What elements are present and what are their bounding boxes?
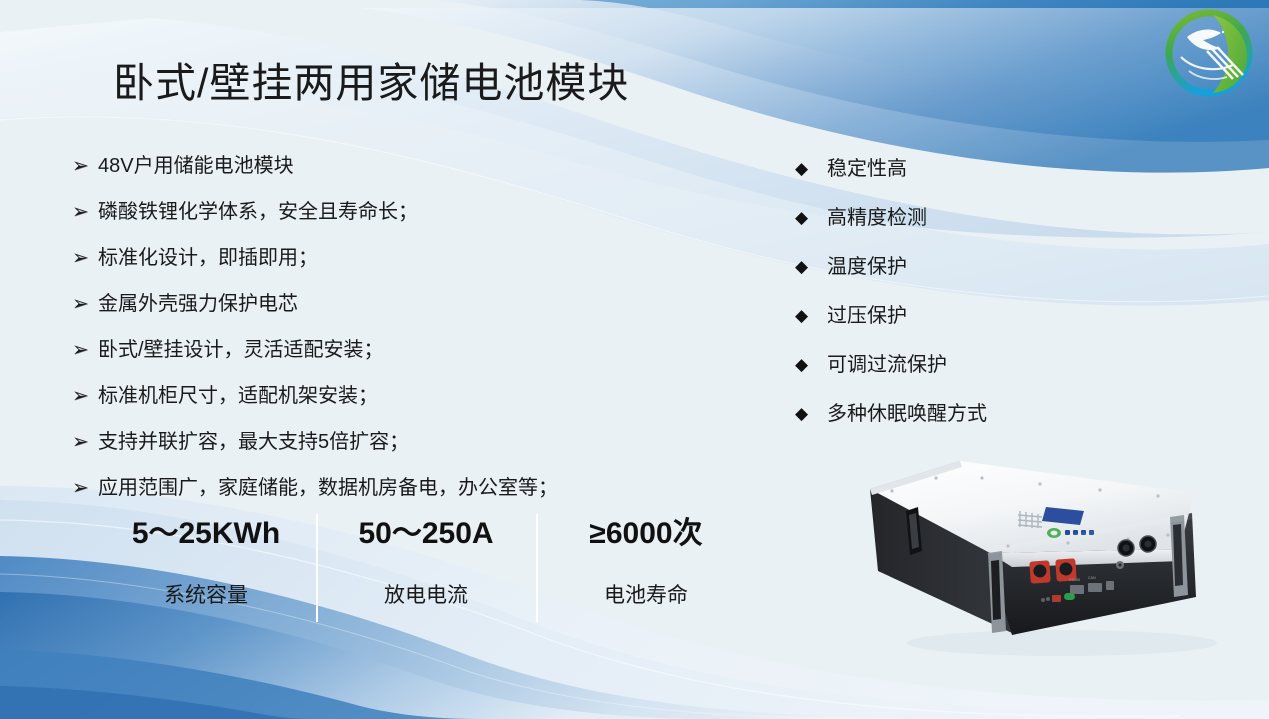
list-item: ◆ 温度保护 (795, 253, 1095, 281)
list-item: ➢ 卧式/壁挂设计，灵活适配安装； (72, 336, 692, 364)
features-left-list: ➢ 48V户用储能电池模块 ➢ 磷酸铁锂化学体系，安全且寿命长； ➢ 标准化设计… (72, 152, 692, 520)
spec-label: 系统容量 (164, 583, 248, 609)
svg-text:-: - (1060, 553, 1062, 559)
list-item: ◆ 多种休眠唤醒方式 (795, 400, 1095, 428)
slide-canvas: 卧式/壁挂两用家储电池模块 ➢ 48V户用储能电池模块 ➢ 磷酸铁锂化学体系，安… (0, 0, 1269, 719)
list-item-label: 卧式/壁挂设计，灵活适配安装； (98, 336, 384, 364)
spec-item-discharge-current: 50～250A 放电电流 (316, 512, 536, 624)
list-item-label: 标准化设计，即插即用； (98, 244, 318, 272)
diamond-bullet-icon: ◆ (795, 253, 827, 281)
svg-text:RS485: RS485 (1069, 578, 1080, 582)
list-item-label: 可调过流保护 (827, 351, 947, 379)
list-item: ◆ 高精度检测 (795, 204, 1095, 232)
list-item: ➢ 磷酸铁锂化学体系，安全且寿命长； (72, 198, 692, 226)
list-item: ➢ 应用范围广，家庭储能，数据机房备电，办公室等； (72, 474, 692, 502)
spec-label: 电池寿命 (604, 583, 688, 609)
arrow-bullet-icon: ➢ (72, 382, 98, 410)
list-item: ➢ 支持并联扩容，最大支持5倍扩容； (72, 428, 692, 456)
list-item-label: 应用范围广，家庭储能，数据机房备电，办公室等； (98, 474, 558, 502)
list-item-label: 标准机柜尺寸，适配机架安装； (98, 382, 378, 410)
list-item-label: 磷酸铁锂化学体系，安全且寿命长； (98, 198, 418, 226)
list-item: ◆ 稳定性高 (795, 155, 1095, 183)
spec-value: 5～25KWh (132, 517, 280, 551)
list-item-label: 多种休眠唤醒方式 (827, 400, 987, 428)
spec-value: 50～250A (358, 517, 493, 551)
diamond-bullet-icon: ◆ (795, 302, 827, 330)
list-item-label: 高精度检测 (827, 204, 927, 232)
list-item: ◆ 过压保护 (795, 302, 1095, 330)
list-item-label: 金属外壳强力保护电芯 (98, 290, 298, 318)
spec-value: ≥6000次 (589, 517, 702, 551)
diamond-bullet-icon: ◆ (795, 204, 827, 232)
list-item-label: 支持并联扩容，最大支持5倍扩容； (98, 428, 409, 456)
arrow-bullet-icon: ➢ (72, 336, 98, 364)
spec-item-capacity: 5～25KWh 系统容量 (96, 512, 316, 624)
list-item: ➢ 标准化设计，即插即用； (72, 244, 692, 272)
arrow-bullet-icon: ➢ (72, 244, 98, 272)
list-item: ➢ 金属外壳强力保护电芯 (72, 290, 692, 318)
list-item: ◆ 可调过流保护 (795, 351, 1095, 379)
diamond-bullet-icon: ◆ (795, 400, 827, 428)
list-item: ➢ 48V户用储能电池模块 (72, 152, 692, 180)
diamond-bullet-icon: ◆ (795, 351, 827, 379)
svg-text:CAN: CAN (1088, 576, 1096, 580)
spec-label: 放电电流 (384, 583, 468, 609)
arrow-bullet-icon: ➢ (72, 428, 98, 456)
list-item-label: 过压保护 (827, 302, 907, 330)
arrow-bullet-icon: ➢ (72, 198, 98, 226)
arrow-bullet-icon: ➢ (72, 290, 98, 318)
spec-highlights: 5～25KWh 系统容量 50～250A 放电电流 ≥6000次 电池寿命 (96, 512, 756, 624)
svg-text:+: + (1034, 555, 1038, 561)
spec-item-cycle-life: ≥6000次 电池寿命 (536, 512, 756, 624)
list-item-label: 48V户用储能电池模块 (98, 152, 294, 180)
list-item: ➢ 标准机柜尺寸，适配机架安装； (72, 382, 692, 410)
list-item-label: 温度保护 (827, 253, 907, 281)
arrow-bullet-icon: ➢ (72, 474, 98, 502)
arrow-bullet-icon: ➢ (72, 152, 98, 180)
page-title: 卧式/壁挂两用家储电池模块 (113, 58, 629, 108)
diamond-bullet-icon: ◆ (795, 155, 827, 183)
company-logo (1163, 7, 1255, 99)
list-item-label: 稳定性高 (827, 155, 907, 183)
product-image-battery-module: + - RS485 CAN (862, 445, 1254, 660)
features-right-list: ◆ 稳定性高 ◆ 高精度检测 ◆ 温度保护 ◆ 过压保护 ◆ 可调过流保护 ◆ … (795, 155, 1095, 449)
